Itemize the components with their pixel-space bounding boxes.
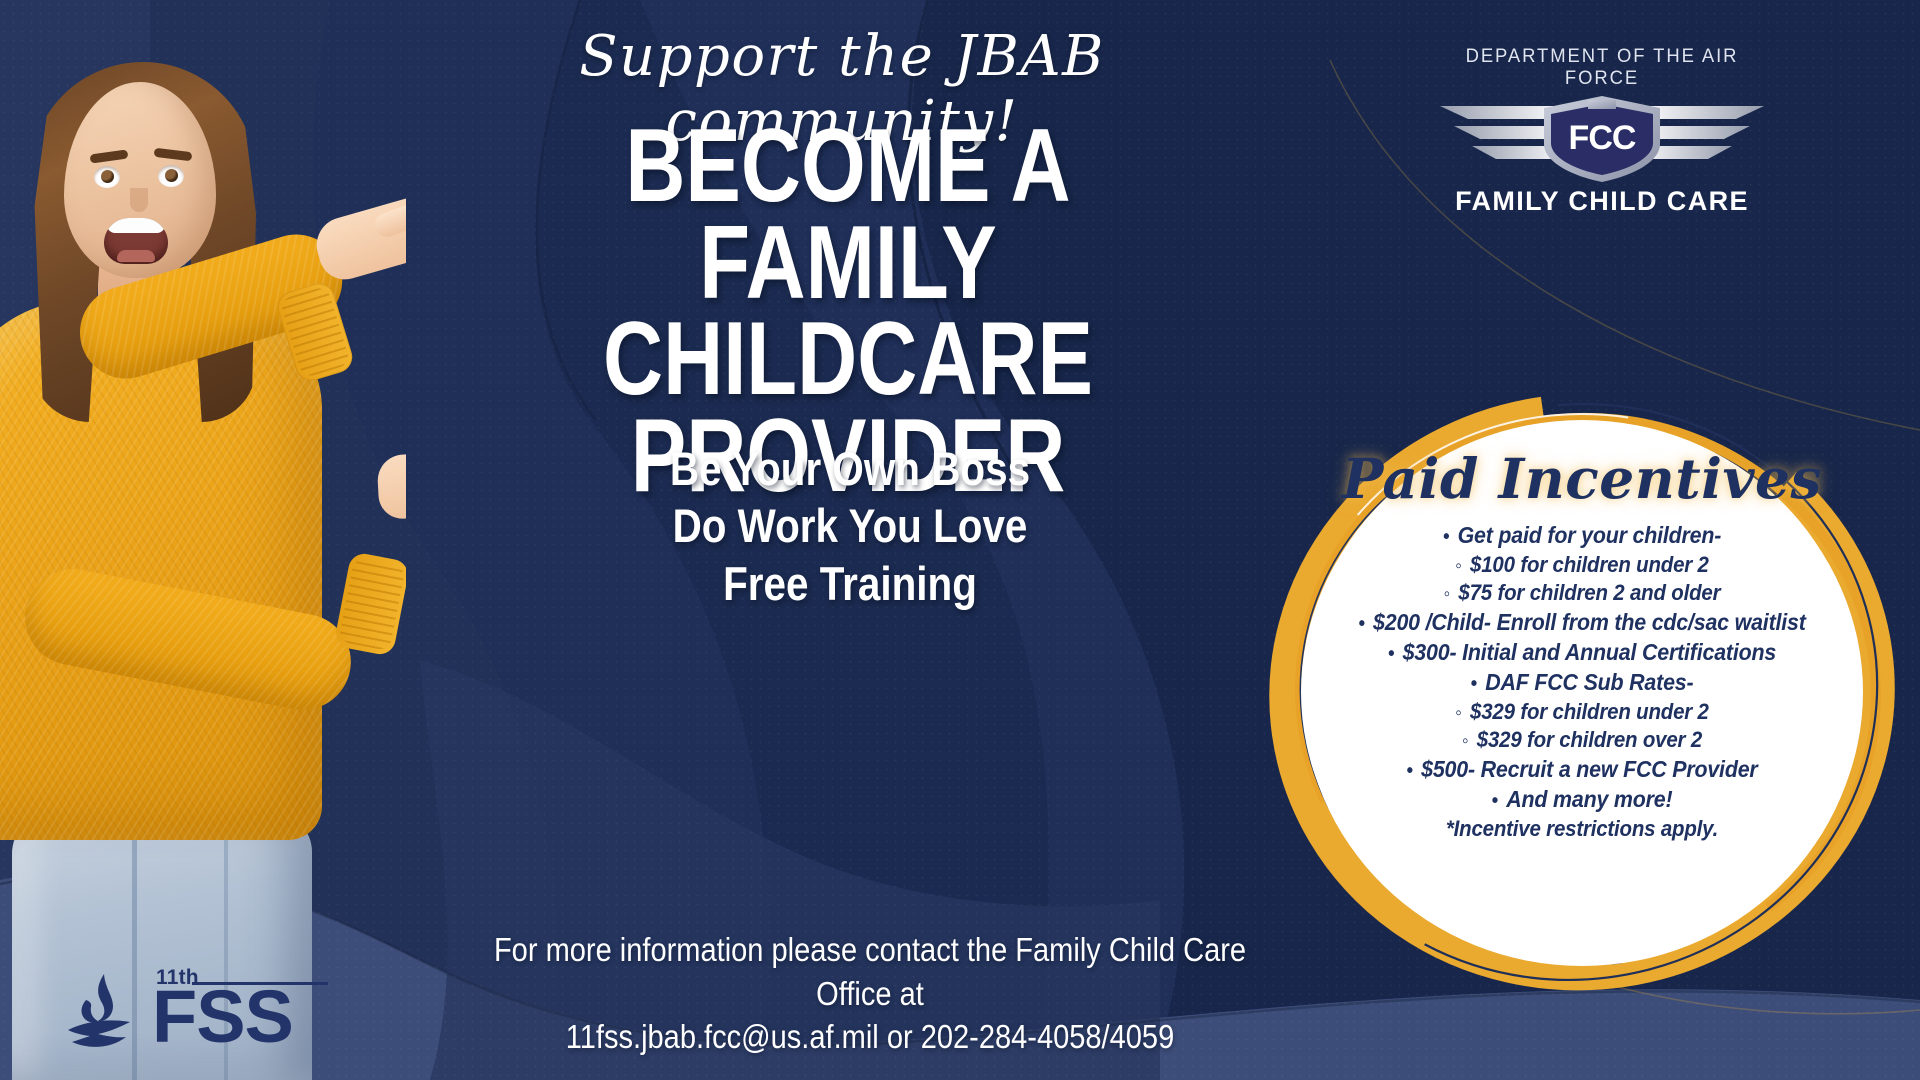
photo-lower-cuff xyxy=(333,551,406,657)
main-headline-line1: BECOME A FAMILY xyxy=(625,108,1070,321)
list-item: •Get paid for your children- xyxy=(1331,521,1833,551)
list-item: ◦$329 for children under 2 xyxy=(1331,698,1833,727)
bullet-icon: • xyxy=(1443,527,1449,547)
list-item: •$500- Recruit a new FCC Provider xyxy=(1331,755,1833,785)
list-item: ◦$100 for children under 2 xyxy=(1331,551,1833,580)
bullet-icon: ◦ xyxy=(1455,703,1461,723)
list-item: ◦$75 for children 2 and older xyxy=(1331,579,1833,608)
photo-lower-pointing-hand xyxy=(376,448,406,520)
fss-wordmark: FSS xyxy=(152,982,293,1052)
fcc-logo: DEPARTMENT OF THE AIR FORCE xyxy=(1432,46,1772,196)
list-item-text: And many more! xyxy=(1506,785,1672,815)
subheadline-list: Be Your Own Boss Do Work You Love Free T… xyxy=(566,440,1134,612)
bullet-icon: • xyxy=(1406,761,1412,781)
bullet-icon: ◦ xyxy=(1444,584,1450,604)
photo-open-mouth xyxy=(104,218,168,264)
photo-eyebrow-left xyxy=(90,149,129,163)
contact-line-1: For more information please contact the … xyxy=(474,928,1266,1015)
list-item-text: Get paid for your children- xyxy=(1458,521,1722,551)
paid-incentives-card: Paid Incentives •Get paid for your child… xyxy=(1258,392,1906,992)
incentives-content: Paid Incentives •Get paid for your child… xyxy=(1302,420,1862,966)
photo-eye-left xyxy=(94,166,120,188)
list-item: •$200 /Child- Enroll from the cdc/sac wa… xyxy=(1331,608,1833,638)
list-item: •And many more! xyxy=(1331,785,1833,815)
photo-eyebrow-right xyxy=(154,148,193,162)
fcc-logo-bottom-text: FAMILY CHILD CARE xyxy=(1432,186,1772,217)
fss-flame-swoosh-icon xyxy=(64,972,148,1056)
subheadline-item: Free Training xyxy=(566,555,1134,612)
bullet-icon: • xyxy=(1471,674,1477,694)
list-item: •DAF FCC Sub Rates- xyxy=(1331,668,1833,698)
incentives-title: Paid Incentives xyxy=(1342,446,1822,511)
contact-line-2[interactable]: 11fss.jbab.fcc@us.af.mil or 202-284-4058… xyxy=(474,1015,1266,1059)
list-item-text: $329 for children over 2 xyxy=(1477,726,1702,755)
bullet-icon: • xyxy=(1492,791,1498,811)
list-item-text: DAF FCC Sub Rates- xyxy=(1485,668,1693,698)
fss-logo: 11th FSS xyxy=(64,966,328,1062)
photo-upper-index-finger xyxy=(371,188,406,240)
list-item-text: $300- Initial and Annual Certifications xyxy=(1403,638,1776,668)
fcc-logo-top-text: DEPARTMENT OF THE AIR FORCE xyxy=(1437,46,1767,90)
presenter-photo xyxy=(0,0,406,1080)
list-item-text: $500- Recruit a new FCC Provider xyxy=(1421,755,1757,785)
photo-eye-right xyxy=(158,165,184,187)
bullet-icon: ◦ xyxy=(1462,731,1468,751)
photo-nose xyxy=(130,188,148,212)
subheadline-item: Do Work You Love xyxy=(566,497,1134,554)
fcc-winged-shield-icon: FCC xyxy=(1432,92,1772,184)
poster-canvas: 11th FSS Support the JBAB community! BEC… xyxy=(0,0,1920,1080)
incentives-footnote: *Incentive restrictions apply. xyxy=(1331,815,1833,844)
list-item-text: $100 for children under 2 xyxy=(1470,551,1709,580)
list-item-text: $329 for children under 2 xyxy=(1470,698,1709,727)
subheadline-item: Be Your Own Boss xyxy=(566,440,1134,497)
incentives-list: •Get paid for your children- ◦$100 for c… xyxy=(1312,521,1852,843)
list-item: ◦$329 for children over 2 xyxy=(1331,726,1833,755)
list-item: •$300- Initial and Annual Certifications xyxy=(1331,638,1833,668)
list-item-text: $200 /Child- Enroll from the cdc/sac wai… xyxy=(1373,608,1806,638)
incentives-footnote-text: *Incentive restrictions apply. xyxy=(1446,815,1718,844)
svg-text:FCC: FCC xyxy=(1569,119,1636,157)
bullet-icon: • xyxy=(1388,644,1394,664)
bullet-icon: • xyxy=(1358,614,1364,634)
contact-block: For more information please contact the … xyxy=(474,928,1266,1059)
bullet-icon: ◦ xyxy=(1455,556,1461,576)
list-item-text: $75 for children 2 and older xyxy=(1458,579,1720,608)
